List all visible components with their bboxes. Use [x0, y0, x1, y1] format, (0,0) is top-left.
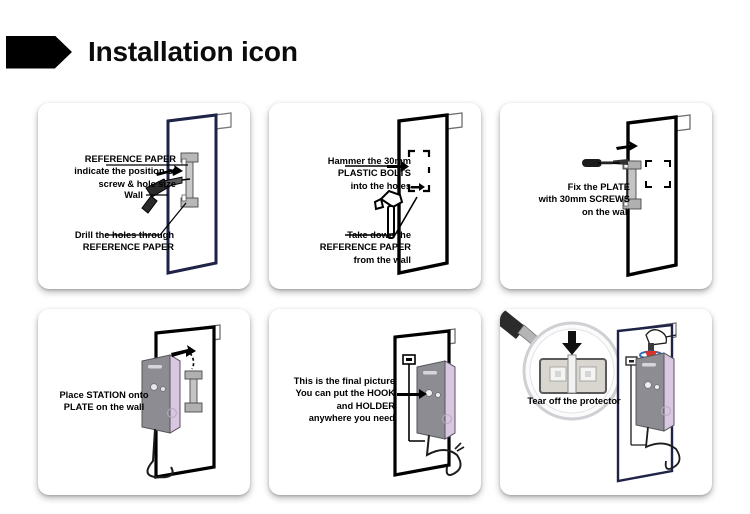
take-down-paper-label: Take down the REFERENCE PAPER from the w…	[275, 229, 411, 266]
station-device-icon	[417, 361, 455, 439]
reference-paper-label: REFERENCE PAPER indicate the position of…	[48, 153, 176, 190]
tear-protector-label: Tear off the protector	[508, 395, 640, 407]
step-card-4: Place STATION onto PLATE on the wall	[38, 309, 250, 495]
step-card-3: Fix the PLATE with 30mm SCREWS on the wa…	[500, 103, 712, 289]
final-picture-label: This is the final picture You can put th…	[273, 375, 395, 425]
black-right-arrow-icon	[6, 36, 72, 69]
step-card-2: Hammer the 30mm PLASTIC BOLTS into the h…	[269, 103, 481, 289]
wall-label: Wall	[48, 189, 143, 201]
step-card-6: Tear off the protector	[500, 309, 712, 495]
page-header: Installation icon	[0, 22, 750, 82]
station-device-icon	[636, 353, 674, 431]
fix-plate-label: Fix the PLATE with 30mm SCREWS on the wa…	[506, 181, 630, 218]
steps-grid: REFERENCE PAPER indicate the position of…	[38, 103, 714, 497]
hammer-bolts-label: Hammer the 30mm PLASTIC BOLTS into the h…	[277, 155, 411, 192]
page-title: Installation icon	[88, 38, 298, 66]
place-station-label: Place STATION onto PLATE on the wall	[44, 389, 164, 414]
drill-holes-label: Drill the holes through REFERENCE PAPER	[46, 229, 174, 254]
installation-instruction-page: Installation icon	[0, 0, 750, 514]
step-card-5: This is the final picture You can put th…	[269, 309, 481, 495]
step-card-1: REFERENCE PAPER indicate the position of…	[38, 103, 250, 289]
